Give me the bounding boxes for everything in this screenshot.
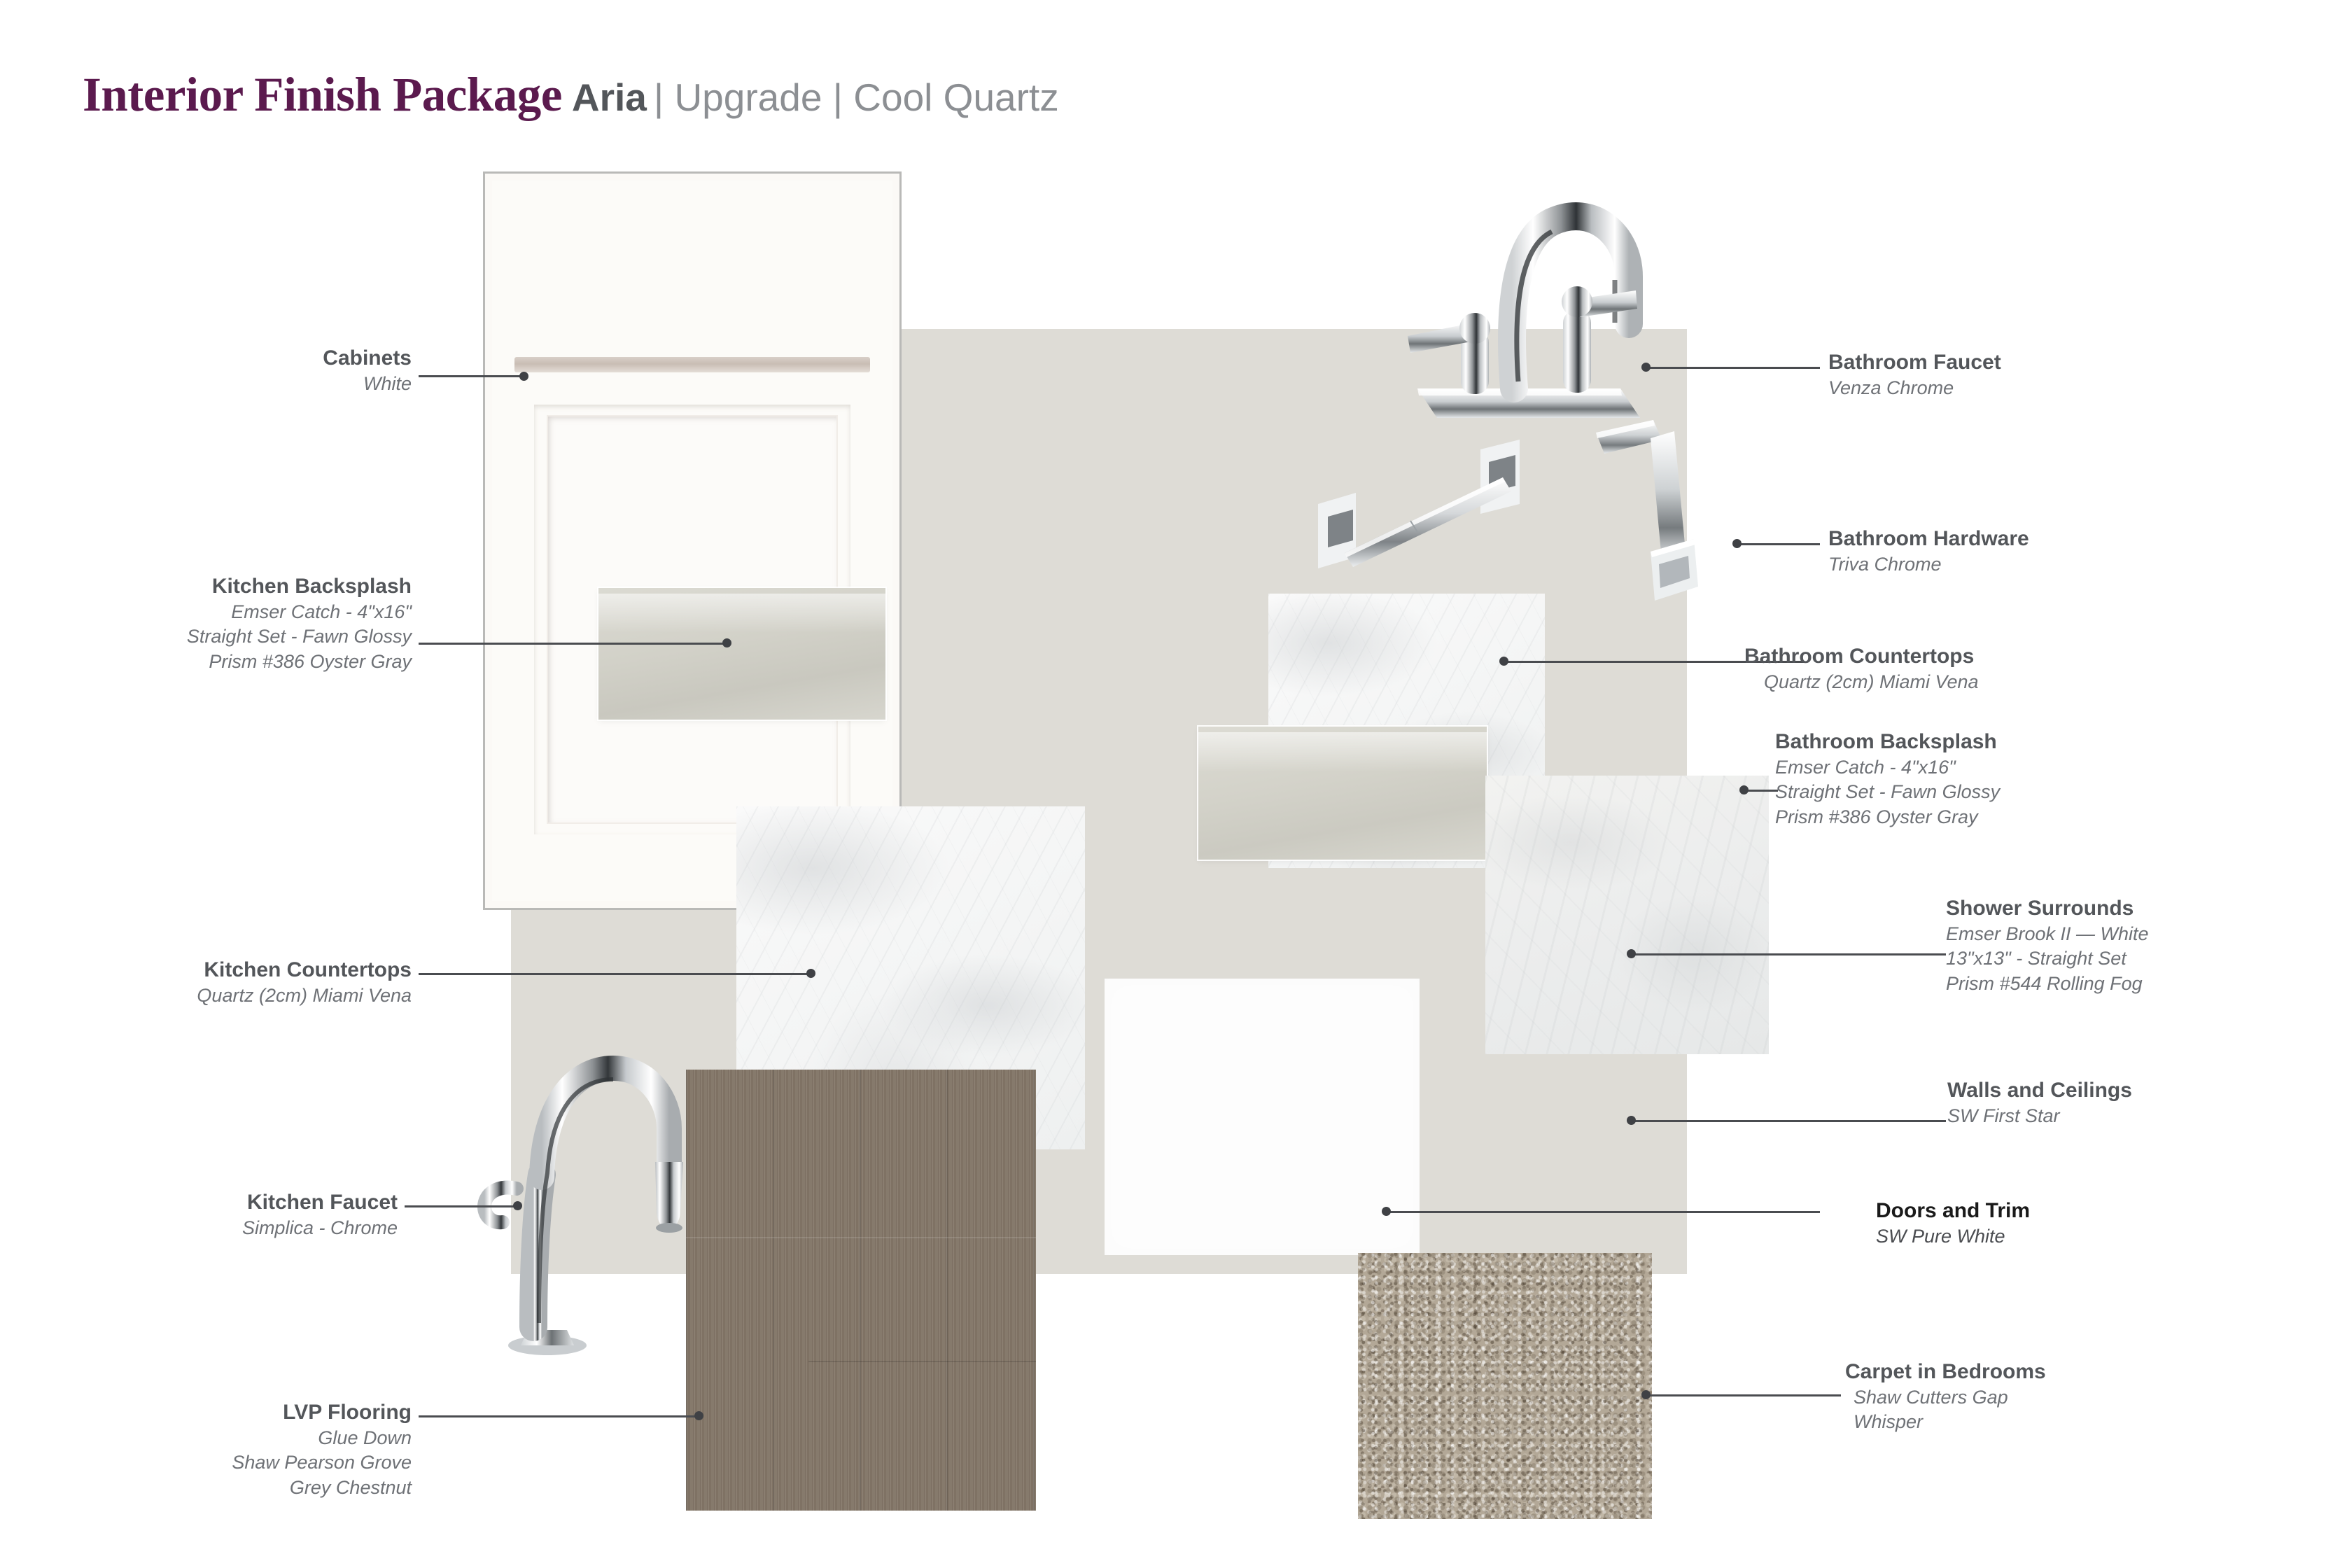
- callout-carpet-in-bedrooms: Carpet in Bedrooms Shaw Cutters Gap Whis…: [1845, 1359, 2209, 1435]
- callout-line: SW Pure White: [1876, 1224, 2240, 1249]
- lvp-plank-seam: [686, 1237, 1036, 1238]
- callout-cabinets: Cabinets White: [160, 346, 412, 396]
- callout-line: Quartz (2cm) Miami Vena: [104, 983, 412, 1009]
- callout-line: Emser Brook II — White: [1946, 922, 2310, 947]
- leader-dot-kitchen-countertops: [806, 969, 815, 978]
- cabinet-door-swatch: [483, 171, 902, 910]
- callout-line: Triva Chrome: [1828, 552, 2262, 577]
- leader-line-bathroom-faucet: [1645, 367, 1820, 369]
- callout-doors-trim: Doors and Trim SW Pure White: [1876, 1198, 2240, 1249]
- callout-bathroom-backsplash: Bathroom Backsplash Emser Catch - 4"x16"…: [1775, 729, 2209, 829]
- callout-title: Doors and Trim: [1876, 1198, 2240, 1224]
- callout-line: Glue Down: [132, 1426, 412, 1451]
- callout-line: Venza Chrome: [1828, 376, 2262, 401]
- leader-dot-cabinets: [519, 372, 528, 381]
- leader-dot-lvp-flooring: [694, 1411, 703, 1420]
- bathroom-faucet-image: [1368, 157, 1669, 430]
- callout-line: White: [160, 372, 412, 397]
- callout-line: Emser Catch - 4"x16": [104, 600, 412, 625]
- callout-line: Grey Chestnut: [132, 1476, 412, 1501]
- callout-title: Bathroom Countertops: [1744, 644, 2108, 670]
- leader-line-shower-surrounds: [1631, 953, 1946, 955]
- callout-bathroom-faucet: Bathroom Faucet Venza Chrome: [1828, 350, 2262, 400]
- callout-line: Quartz (2cm) Miami Vena: [1744, 670, 2108, 695]
- leader-line-walls-ceilings: [1631, 1120, 1946, 1122]
- callout-title: Shower Surrounds: [1946, 896, 2310, 922]
- callout-line: 13"x13" - Straight Set: [1946, 946, 2310, 972]
- callout-line: Shaw Cutters Gap: [1845, 1385, 2209, 1410]
- callout-bathroom-countertops: Bathroom Countertops Quartz (2cm) Miami …: [1744, 644, 2108, 694]
- leader-dot-kitchen-backsplash: [722, 638, 731, 647]
- callout-line: SW First Star: [1947, 1104, 2311, 1129]
- bathroom-towel-bar-image: [1312, 434, 1606, 602]
- kitchen-backsplash-tile-swatch: [598, 588, 885, 720]
- leader-line-carpet: [1645, 1394, 1841, 1396]
- leader-line-kitchen-countertops: [419, 973, 811, 975]
- callout-walls-ceilings: Walls and Ceilings SW First Star: [1947, 1078, 2311, 1128]
- callout-title: Cabinets: [160, 346, 412, 372]
- tile-gloss-highlight: [598, 594, 885, 633]
- page-title: Interior Finish PackageAria| Upgrade | C…: [83, 67, 1059, 122]
- callout-shower-surrounds: Shower Surrounds Emser Brook II — White …: [1946, 896, 2310, 996]
- callout-title: Bathroom Backsplash: [1775, 729, 2209, 755]
- leader-dot-walls-ceilings: [1627, 1116, 1636, 1125]
- lvp-plank-seams: [686, 1070, 1036, 1511]
- callout-line: Simplica - Chrome: [118, 1216, 398, 1241]
- callout-bathroom-hardware: Bathroom Hardware Triva Chrome: [1828, 526, 2262, 577]
- callout-line: Emser Catch - 4"x16": [1775, 755, 2209, 780]
- leader-dot-doors-trim: [1382, 1207, 1391, 1216]
- shower-surround-tile-swatch: [1485, 776, 1769, 1054]
- callout-title: Kitchen Backsplash: [104, 574, 412, 600]
- tile-gloss-highlight: [1198, 732, 1487, 772]
- leader-dot-bathroom-backsplash: [1739, 785, 1749, 794]
- cabinet-drawer-reveal: [514, 357, 870, 372]
- leader-dot-carpet: [1641, 1390, 1651, 1399]
- callout-title: Walls and Ceilings: [1947, 1078, 2311, 1104]
- leader-line-lvp-flooring: [419, 1415, 699, 1417]
- callout-title: Carpet in Bedrooms: [1845, 1359, 2209, 1385]
- carpet-pile-texture: [1358, 1253, 1652, 1519]
- callout-kitchen-countertops: Kitchen Countertops Quartz (2cm) Miami V…: [104, 958, 412, 1008]
- leader-line-bathroom-hardware: [1736, 543, 1820, 545]
- lvp-flooring-swatch: [686, 1070, 1036, 1511]
- callout-title: LVP Flooring: [132, 1400, 412, 1426]
- callout-line: Prism #386 Oyster Gray: [104, 650, 412, 675]
- title-variant: | Upgrade | Cool Quartz: [654, 76, 1059, 119]
- callout-kitchen-backsplash: Kitchen Backsplash Emser Catch - 4"x16" …: [104, 574, 412, 674]
- callout-title: Bathroom Hardware: [1828, 526, 2262, 552]
- leader-line-kitchen-faucet: [405, 1205, 517, 1207]
- callout-title: Bathroom Faucet: [1828, 350, 2262, 376]
- callout-line: Prism #386 Oyster Gray: [1775, 805, 2209, 830]
- callout-line: Whisper: [1845, 1410, 2209, 1435]
- carpet-swatch: [1358, 1253, 1652, 1519]
- callout-lvp-flooring: LVP Flooring Glue Down Shaw Pearson Grov…: [132, 1400, 412, 1500]
- leader-line-cabinets: [419, 375, 524, 377]
- callout-line: Shaw Pearson Grove: [132, 1450, 412, 1476]
- leader-dot-shower-surrounds: [1627, 949, 1636, 958]
- callout-line: Straight Set - Fawn Glossy: [1775, 780, 2209, 805]
- leader-line-doors-trim: [1386, 1211, 1820, 1213]
- leader-dot-bathroom-faucet: [1641, 363, 1651, 372]
- bathroom-backsplash-tile-swatch: [1198, 727, 1487, 860]
- bathroom-hook-image: [1589, 420, 1757, 609]
- lvp-plank-seam: [808, 1361, 1036, 1362]
- callout-title: Kitchen Faucet: [118, 1190, 398, 1216]
- callout-line: Prism #544 Rolling Fog: [1946, 972, 2310, 997]
- kitchen-faucet-image: [469, 1001, 686, 1358]
- callout-title: Kitchen Countertops: [104, 958, 412, 983]
- leader-line-kitchen-backsplash: [419, 643, 727, 645]
- title-package: Aria: [572, 76, 647, 119]
- leader-dot-bathroom-countertops: [1499, 657, 1508, 666]
- leader-dot-bathroom-hardware: [1732, 539, 1742, 548]
- doors-trim-paint-swatch: [1105, 979, 1420, 1255]
- callout-line: Straight Set - Fawn Glossy: [104, 624, 412, 650]
- leader-dot-kitchen-faucet: [513, 1201, 522, 1210]
- title-main: Interior Finish Package: [83, 68, 562, 121]
- callout-kitchen-faucet: Kitchen Faucet Simplica - Chrome: [118, 1190, 398, 1240]
